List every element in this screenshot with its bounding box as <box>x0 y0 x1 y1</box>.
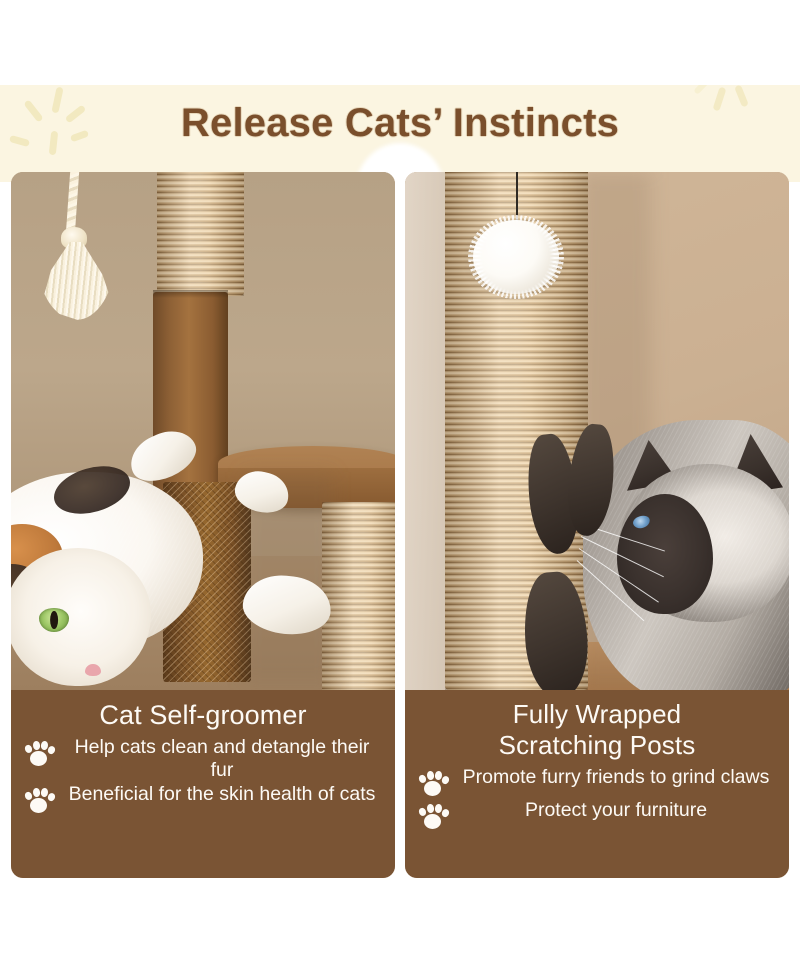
paw-print-icon <box>25 788 55 814</box>
bullet-text: Protect your furniture <box>457 799 775 822</box>
feature-card-right: Fully Wrapped Scratching Posts Promote f… <box>405 172 789 878</box>
bullet-item: Help cats clean and detangle their fur <box>25 736 381 781</box>
caption-title-right-line2: Scratching Posts <box>499 731 696 760</box>
paw-print-icon <box>25 741 55 767</box>
bullet-item: Beneficial for the skin health of cats <box>25 783 381 814</box>
feature-card-left: Cat Self-groomer Help cats clean and det… <box>11 172 395 878</box>
header-band: Release Cats’ Instincts <box>0 85 800 182</box>
photo-scratching-post <box>405 172 789 690</box>
product-feature-graphic: Release Cats’ Instincts <box>0 0 800 977</box>
sisal-post-upper <box>157 172 244 296</box>
bullet-item: Protect your furniture <box>419 799 775 830</box>
bullet-list-right: Promote furry friends to grind claws Pro… <box>419 766 775 830</box>
calico-nose <box>85 664 101 676</box>
bullet-item: Promote furry friends to grind claws <box>419 766 775 797</box>
feature-card-row: Cat Self-groomer Help cats clean and det… <box>11 172 789 878</box>
paw-print-icon <box>419 771 449 797</box>
bullet-text: Promote furry friends to grind claws <box>457 766 775 789</box>
caption-left: Cat Self-groomer Help cats clean and det… <box>11 690 395 878</box>
page-title: Release Cats’ Instincts <box>0 101 800 146</box>
bullet-text: Beneficial for the skin health of cats <box>63 783 381 806</box>
pom-pom-toy <box>473 220 559 294</box>
photo-cat-self-groomer <box>11 172 395 690</box>
caption-title-right-line1: Fully Wrapped <box>513 700 681 729</box>
paw-print-icon <box>419 804 449 830</box>
bullet-list-left: Help cats clean and detangle their fur B… <box>25 736 381 814</box>
siamese-face-mask <box>617 494 713 614</box>
plush-column-seam <box>153 290 228 298</box>
calico-cat-head <box>11 548 151 686</box>
bullet-text: Help cats clean and detangle their fur <box>63 736 381 781</box>
caption-title-left: Cat Self-groomer <box>99 700 306 730</box>
caption-right: Fully Wrapped Scratching Posts Promote f… <box>405 690 789 878</box>
